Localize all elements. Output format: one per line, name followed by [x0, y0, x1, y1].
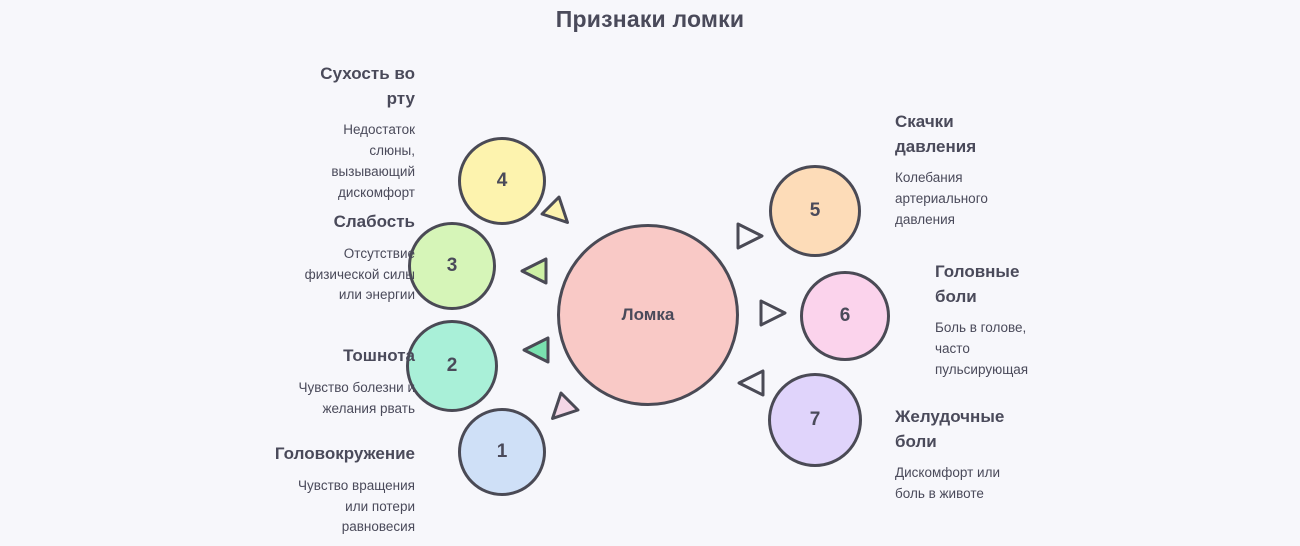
- label-description: Колебанияартериальногодавления: [895, 168, 1125, 231]
- label-description: Недостатокслюны,вызывающийдискомфорт: [185, 120, 415, 204]
- label-heading: Скачкидавления: [895, 110, 1125, 159]
- label-block-7: ЖелудочныеболиДискомфорт илиболь в живот…: [895, 405, 1125, 505]
- center-node[interactable]: Ломка: [557, 224, 739, 406]
- label-description: Чувство болезни ижелания рвать: [185, 378, 415, 420]
- label-heading: Желудочныеболи: [895, 405, 1125, 454]
- node-7[interactable]: 7: [768, 373, 862, 467]
- node-5[interactable]: 5: [769, 165, 861, 257]
- arrow-to-node-3-icon: [516, 253, 552, 289]
- infographic-canvas: Признаки ломки Ломка1234567 Сухость ворт…: [0, 0, 1300, 546]
- label-description: Боль в голове,частопульсирующая: [935, 318, 1165, 381]
- arrow-to-node-1-icon: [536, 385, 587, 436]
- label-description: Чувство вращенияили потериравновесия: [185, 476, 415, 539]
- label-block-4: ГоловокружениеЧувство вращенияили потери…: [185, 442, 415, 538]
- label-heading: Тошнота: [185, 344, 415, 369]
- node-number: 1: [497, 441, 508, 463]
- label-block-1: Сухость вортуНедостатокслюны,вызывающийд…: [185, 62, 415, 204]
- label-heading: Слабость: [185, 210, 415, 235]
- arrow-to-node-6-icon: [755, 295, 791, 331]
- node-6[interactable]: 6: [800, 271, 890, 361]
- node-number: 5: [810, 200, 821, 222]
- arrow-to-node-2-icon: [518, 332, 554, 368]
- node-number: 3: [447, 255, 458, 277]
- label-block-6: ГоловныеболиБоль в голове,частопульсирую…: [935, 260, 1165, 381]
- node-number: 7: [810, 409, 821, 431]
- page-title: Признаки ломки: [0, 6, 1300, 33]
- label-block-5: СкачкидавленияКолебанияартериальногодавл…: [895, 110, 1125, 231]
- arrow-to-node-7-icon: [733, 365, 769, 401]
- center-node-label: Ломка: [622, 305, 675, 325]
- node-3[interactable]: 3: [408, 222, 496, 310]
- label-heading: Головныеболи: [935, 260, 1165, 309]
- node-number: 2: [447, 355, 458, 377]
- node-4[interactable]: 4: [458, 137, 546, 225]
- label-heading: Сухость ворту: [185, 62, 415, 111]
- label-description: Дискомфорт илиболь в животе: [895, 463, 1125, 505]
- label-heading: Головокружение: [185, 442, 415, 467]
- label-block-2: СлабостьОтсутствиефизической силыили эне…: [185, 210, 415, 306]
- node-2[interactable]: 2: [406, 320, 498, 412]
- arrow-to-node-5-icon: [732, 218, 768, 254]
- label-description: Отсутствиефизической силыили энергии: [185, 244, 415, 307]
- label-block-3: ТошнотаЧувство болезни ижелания рвать: [185, 344, 415, 419]
- node-1[interactable]: 1: [458, 408, 546, 496]
- node-number: 4: [497, 170, 508, 192]
- node-number: 6: [840, 305, 851, 327]
